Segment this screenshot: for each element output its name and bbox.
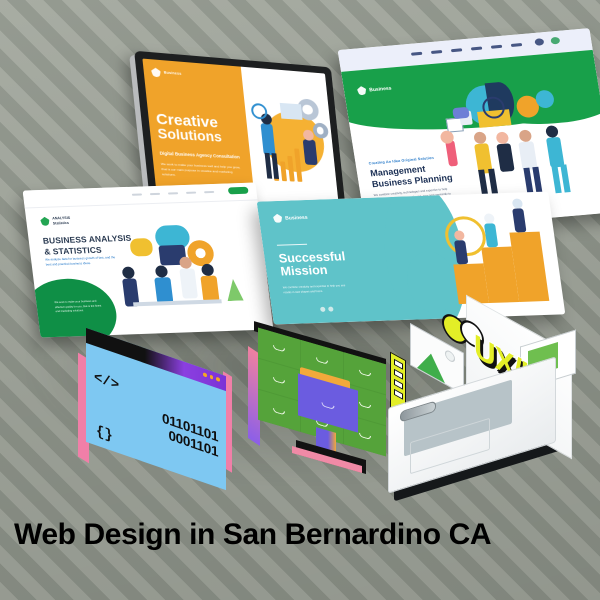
brand-name: Business <box>285 214 308 221</box>
mountain-icon <box>417 346 445 384</box>
brand-line-2: Statistics <box>53 221 70 226</box>
page-green-title: Management Business Planning <box>370 161 454 189</box>
illustration-person-head <box>122 266 136 278</box>
code-browser-window: </> {} 01101101 0001101 <box>78 352 228 470</box>
cart-icon[interactable] <box>550 37 560 45</box>
page-teal-title: Successful Mission <box>278 250 348 278</box>
monitor-brand-logo: Business <box>151 67 235 83</box>
uxui-laptop-illustration: UX/UI <box>382 318 572 483</box>
window-dot[interactable] <box>210 375 214 380</box>
illustration-person <box>200 276 219 302</box>
brand-mark-icon <box>151 67 162 77</box>
nav-dash[interactable] <box>204 191 214 194</box>
brand-name: ANALYSIS Statistics <box>52 216 71 226</box>
brand-name: Business <box>369 85 392 93</box>
brand-name: Business <box>164 71 182 77</box>
page-left-circle-text: We work to make your business and effect… <box>54 299 106 314</box>
tool-icon[interactable] <box>394 359 403 370</box>
illustration-person-head <box>454 230 465 240</box>
illustration-person <box>512 208 526 232</box>
sun-icon <box>445 348 455 364</box>
illustration-leg <box>532 167 542 195</box>
chat-bubble-icon <box>452 107 470 119</box>
illustration-person <box>179 268 198 298</box>
illustration-leg <box>560 164 570 192</box>
nav-dash[interactable] <box>491 45 502 49</box>
file-cabinet-illustration <box>248 338 388 480</box>
nav-dash[interactable] <box>132 193 142 196</box>
tool-icon[interactable] <box>394 389 403 400</box>
nav-dash[interactable] <box>186 192 196 195</box>
brand-mark-icon <box>40 217 50 226</box>
monitor-subtitle: Digital Business Agency Consultation <box>160 151 244 162</box>
illustration-person-head <box>484 213 495 223</box>
illustration-person <box>496 143 514 172</box>
page-teal-logo: Business <box>273 213 309 223</box>
monitor-body: We work to make your business well and h… <box>161 161 246 180</box>
nav-dash[interactable] <box>451 48 462 52</box>
tool-icon[interactable] <box>394 369 403 380</box>
illustration-shape <box>279 103 302 120</box>
illustration-person <box>518 141 537 170</box>
illustration-person <box>546 137 565 168</box>
window-dot[interactable] <box>203 372 207 377</box>
illustration-person <box>302 139 317 165</box>
illustration-person-head <box>179 257 193 269</box>
promo-graphic-canvas: Business Creating An Idea Original Solut… <box>0 0 600 600</box>
idea-bubble-icon <box>129 238 153 257</box>
page-left-subtitle: We analyze data for business growth of f… <box>45 255 120 268</box>
illustration-person-head <box>155 265 169 277</box>
illustration-person <box>154 277 173 303</box>
nav-dash[interactable] <box>411 52 422 56</box>
nav-dash[interactable] <box>431 50 442 54</box>
plant-icon <box>225 279 244 301</box>
window-dot[interactable] <box>216 377 220 382</box>
window-controls[interactable] <box>203 372 220 381</box>
page-title: Web Design in San Bernardino CA <box>14 518 586 552</box>
page-left-title: BUSINESS ANALYSIS & STATISTICS <box>42 233 133 257</box>
title-line-2: Mission <box>280 263 348 278</box>
account-icon[interactable] <box>534 38 544 46</box>
business-analysis-statistics-page: ANALYSIS Statistics BUSINESS ANALYSIS & … <box>23 182 274 337</box>
brand-mark-icon <box>273 214 283 223</box>
monitor-title: Creative Solutions <box>155 112 241 146</box>
search-icon <box>250 103 267 120</box>
illustration-person-head <box>512 198 523 208</box>
title-line-2: & STATISTICS <box>44 244 103 256</box>
nav-dash[interactable] <box>150 193 160 196</box>
page-teal-dots[interactable] <box>320 307 334 312</box>
nav-dash[interactable] <box>511 43 522 47</box>
brand-name-text: Business <box>164 71 182 76</box>
page-left-logo: ANALYSIS Statistics <box>40 216 71 226</box>
cta-button[interactable] <box>228 187 249 195</box>
illustration-person <box>484 223 498 247</box>
nav-dash[interactable] <box>471 47 482 51</box>
successful-mission-page: Business Successful Mission We combine c… <box>257 192 566 325</box>
table-surface <box>133 299 222 306</box>
tool-icon[interactable] <box>394 379 403 390</box>
nav-dash[interactable] <box>168 192 178 195</box>
brand-mark-icon <box>357 86 367 96</box>
illustration-person-head <box>201 264 215 276</box>
gear-center <box>195 248 206 258</box>
